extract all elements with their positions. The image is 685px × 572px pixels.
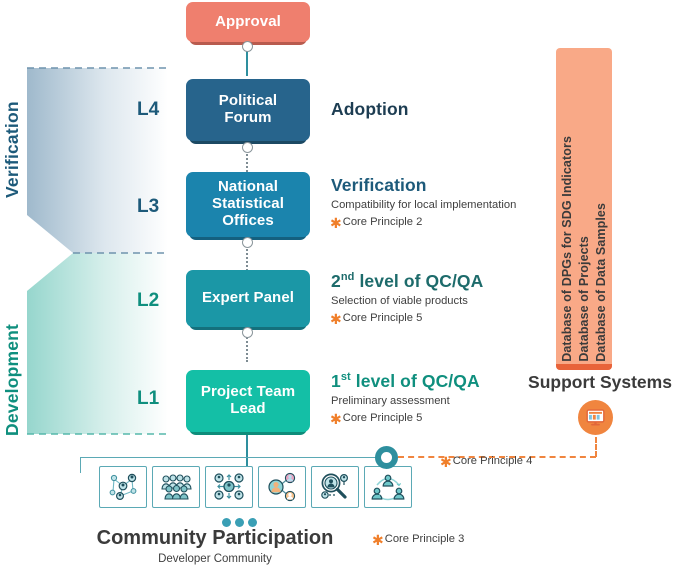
flow-box-approval[interactable]: Approval [186,2,310,42]
support-db-dpgs-sdg-indicators: Database of DPGs for SDG Indicators [560,136,574,362]
connector-node-nso [242,237,253,248]
support-systems-column[interactable]: Database of DPGs for SDG Indicators Data… [556,48,612,370]
connector-node-political-forum [242,142,253,153]
three-people-connected-icon [371,472,405,502]
caption-subtitle-first-level: Preliminary assessment [331,395,450,407]
flow-box-nso-label: NationalStatisticalOffices [192,179,304,230]
community-dot-1 [222,518,231,527]
monitor-dashboard-icon[interactable] [578,400,613,435]
core-principle-4-text: Core Principle 4 [453,455,533,467]
connector-node-approval [242,41,253,52]
caption-adoption-text: Adoption [331,99,409,119]
flow-box-political-forum[interactable]: PoliticalForum [186,79,310,141]
crowd-group-icon [159,472,193,502]
asterisk-icon-cp3: ✱ [372,532,384,548]
colored-people-network-icon [265,472,299,502]
community-icon-person-search-magnifier[interactable] [311,466,359,508]
flow-box-project-team-lead-label: Project TeamLead [192,384,304,418]
core-principle-3-text: Core Principle 3 [385,533,465,545]
caption-principle-first-level: ✱Core Principle 5 [330,412,422,424]
caption-principle-verification: ✱Core Principle 2 [330,216,422,228]
side-label-verification: Verification [2,68,23,198]
support-db-data-samples: Database of Data Samples [594,203,608,362]
people-network-icon [106,472,140,502]
flow-box-political-forum-label: PoliticalForum [192,93,304,127]
support-systems-column-base [556,364,612,370]
caption-second-level-sup: nd [341,271,355,283]
community-icon-colored-people-network[interactable] [258,466,306,508]
caption-principle-second-level: ✱Core Principle 5 [330,312,422,324]
flow-box-project-team-lead[interactable]: Project TeamLead [186,370,310,432]
community-icon-crowd-group[interactable] [152,466,200,508]
caption-principle-first-level-text: Core Principle 5 [343,412,423,424]
caption-heading-verification: Verification [331,175,427,196]
caption-second-level-rest: level of QC/QA [354,271,483,291]
level-label-l1: L1 [137,388,159,410]
core-principle-3-note: ✱Core Principle 3 [372,533,464,545]
community-dot-2 [235,518,244,527]
side-label-development: Development [2,296,23,436]
asterisk-icon-cp4: ✱ [440,454,452,470]
caption-principle-second-level-text: Core Principle 5 [343,312,423,324]
caption-heading-first-level: 1st level of QC/QA [331,371,480,392]
flow-box-approval-label: Approval [192,14,304,31]
monitor-dashboard-glyph [585,407,606,428]
caption-principle-verification-text: Core Principle 2 [343,216,423,228]
flow-box-expert-panel[interactable]: Expert Panel [186,270,310,327]
community-dot-3 [248,518,257,527]
people-exchange-arrows-icon [212,472,246,502]
community-icon-three-people-connected[interactable] [364,466,412,508]
connector-node-expert-panel [242,327,253,338]
caption-heading-adoption: Adoption [331,99,409,120]
caption-first-level-rest: level of QC/QA [351,371,480,391]
caption-heading-second-level: 2nd level of QC/QA [331,271,483,292]
community-icon-people-network[interactable] [99,466,147,508]
flow-box-national-statistical-offices[interactable]: NationalStatisticalOffices [186,172,310,237]
support-db-projects: Database of Projects [577,236,591,362]
caption-verification-text: Verification [331,175,427,195]
community-participation-title: Community Participation [60,527,370,550]
core-principle-4-note: ✱Core Principle 4 [440,455,532,467]
flow-box-expert-panel-label: Expert Panel [192,290,304,307]
asterisk-icon-cp2: ✱ [330,215,342,231]
level-label-l3: L3 [137,196,159,218]
person-search-magnifier-icon [318,472,352,502]
level-label-l4: L4 [137,99,159,121]
level-label-l2: L2 [137,290,159,312]
dashed-link-vertical-support [595,437,597,457]
diagram-canvas: Verification Development L4 L3 L2 L1 ✱Co… [0,0,685,572]
community-hub-ring [375,446,398,469]
support-systems-title: Support Systems [516,372,684,393]
asterisk-icon-cp5-a: ✱ [330,311,342,327]
caption-subtitle-second-level: Selection of viable products [331,295,468,307]
caption-subtitle-verification: Compatibility for local implementation [331,199,516,211]
caption-first-level-num: 1 [331,371,341,391]
community-icon-people-exchange-arrows[interactable] [205,466,253,508]
caption-first-level-sup: st [341,371,351,383]
community-participation-subtitle: Developer Community [60,553,370,565]
asterisk-icon-cp5-b: ✱ [330,411,342,427]
caption-second-level-num: 2 [331,271,341,291]
